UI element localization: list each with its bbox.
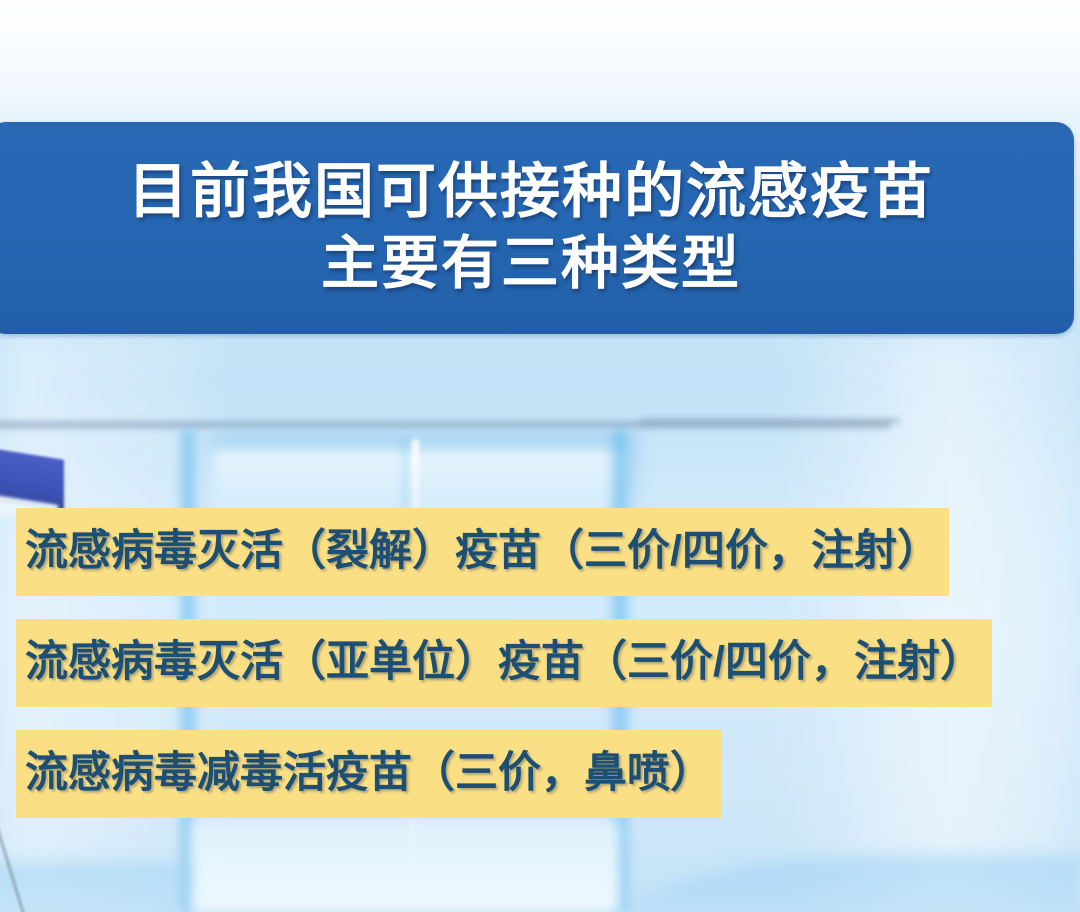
title-line-primary: 目前我国可供接种的流感疫苗 xyxy=(128,160,934,225)
background-floor-left-shape xyxy=(0,862,190,912)
ceiling-beam-secondary-shape xyxy=(640,416,900,426)
vaccine-type-list: 流感病毒灭活（裂解）疫苗（三价/四价，注射） 流感病毒灭活（亚单位）疫苗（三价/… xyxy=(16,508,1066,841)
vaccine-list-item: 流感病毒减毒活疫苗（三价，鼻喷） xyxy=(16,730,1066,818)
vaccine-label-inactivated-subunit: 流感病毒灭活（亚单位）疫苗（三价/四价，注射） xyxy=(16,619,992,707)
vaccine-label-inactivated-split: 流感病毒灭活（裂解）疫苗（三价/四价，注射） xyxy=(16,508,949,596)
background-top-haze xyxy=(0,0,1080,120)
title-line-secondary: 主要有三种类型 xyxy=(321,233,741,296)
poster-root: 目前我国可供接种的流感疫苗 主要有三种类型 流感病毒灭活（裂解）疫苗（三价/四价… xyxy=(0,0,1080,912)
vaccine-list-item: 流感病毒灭活（亚单位）疫苗（三价/四价，注射） xyxy=(16,619,1066,707)
title-banner: 目前我国可供接种的流感疫苗 主要有三种类型 xyxy=(0,122,1074,334)
vaccine-label-live-attenuated: 流感病毒减毒活疫苗（三价，鼻喷） xyxy=(16,730,722,818)
vaccine-list-item: 流感病毒灭活（裂解）疫苗（三价/四价，注射） xyxy=(16,508,1066,596)
